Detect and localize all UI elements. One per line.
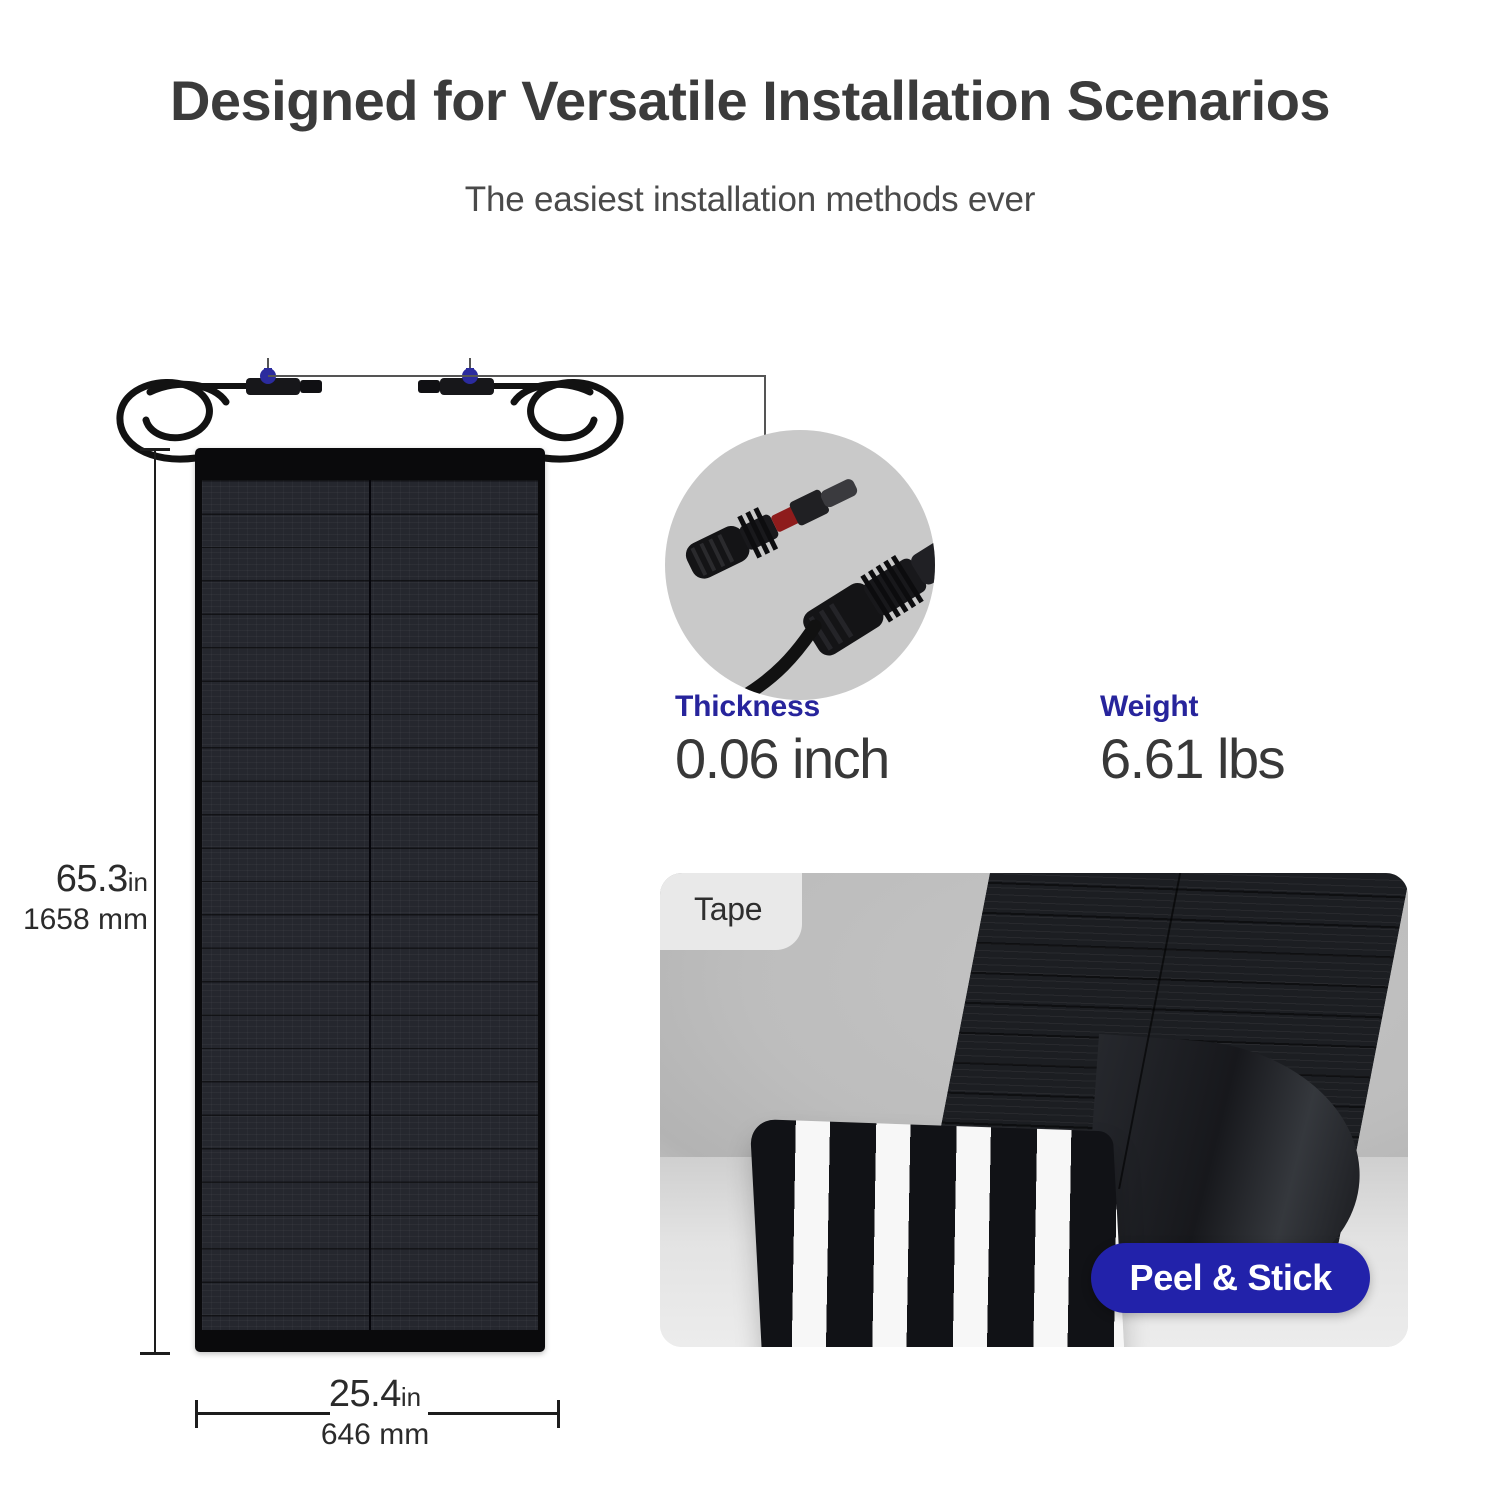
height-dimension-cap-top [140,448,170,451]
height-metric: 1658 mm [0,903,148,937]
height-unit: in [128,867,148,897]
peel-and-stick-pill: Peel & Stick [1091,1243,1370,1313]
height-value: 65.3 [56,858,128,900]
mc4-connector-left [246,368,322,395]
tape-photo-card: Tape Peel & Stick [660,873,1408,1347]
spec-thickness: Thickness 0.06 inch [675,690,889,789]
page-title: Designed for Versatile Installation Scen… [0,72,1500,131]
tape-badge: Tape [660,873,802,950]
width-value: 25.4 [329,1373,401,1415]
solar-panel-body [195,448,545,1352]
spec-thickness-label: Thickness [675,690,889,724]
spec-thickness-value: 0.06 inch [675,730,889,789]
height-dimension-label: 65.3in 1658 mm [0,858,148,936]
mc4-connector-icon [665,430,935,700]
width-unit: in [401,1382,421,1412]
height-dimension-cap-bottom [140,1352,170,1355]
mc4-connector-right [418,368,494,395]
solar-panel-center-seam [369,480,371,1330]
connector-callout [640,400,980,700]
spec-weight: Weight 6.61 lbs [1100,690,1284,789]
spec-block: Thickness 0.06 inch Weight 6.61 lbs [660,690,1400,810]
width-dimension-group: 25.4in 646 mm [180,1382,570,1472]
spec-weight-label: Weight [1100,690,1284,724]
spec-weight-value: 6.61 lbs [1100,730,1284,789]
page-subtitle: The easiest installation methods ever [0,180,1500,220]
mc4-connector-photo [665,430,935,700]
width-metric: 646 mm [180,1418,570,1451]
width-dimension-label: 25.4in 646 mm [180,1374,570,1451]
photo-adhesive-tape-strips [750,1119,1129,1347]
height-dimension-line [154,448,156,1355]
